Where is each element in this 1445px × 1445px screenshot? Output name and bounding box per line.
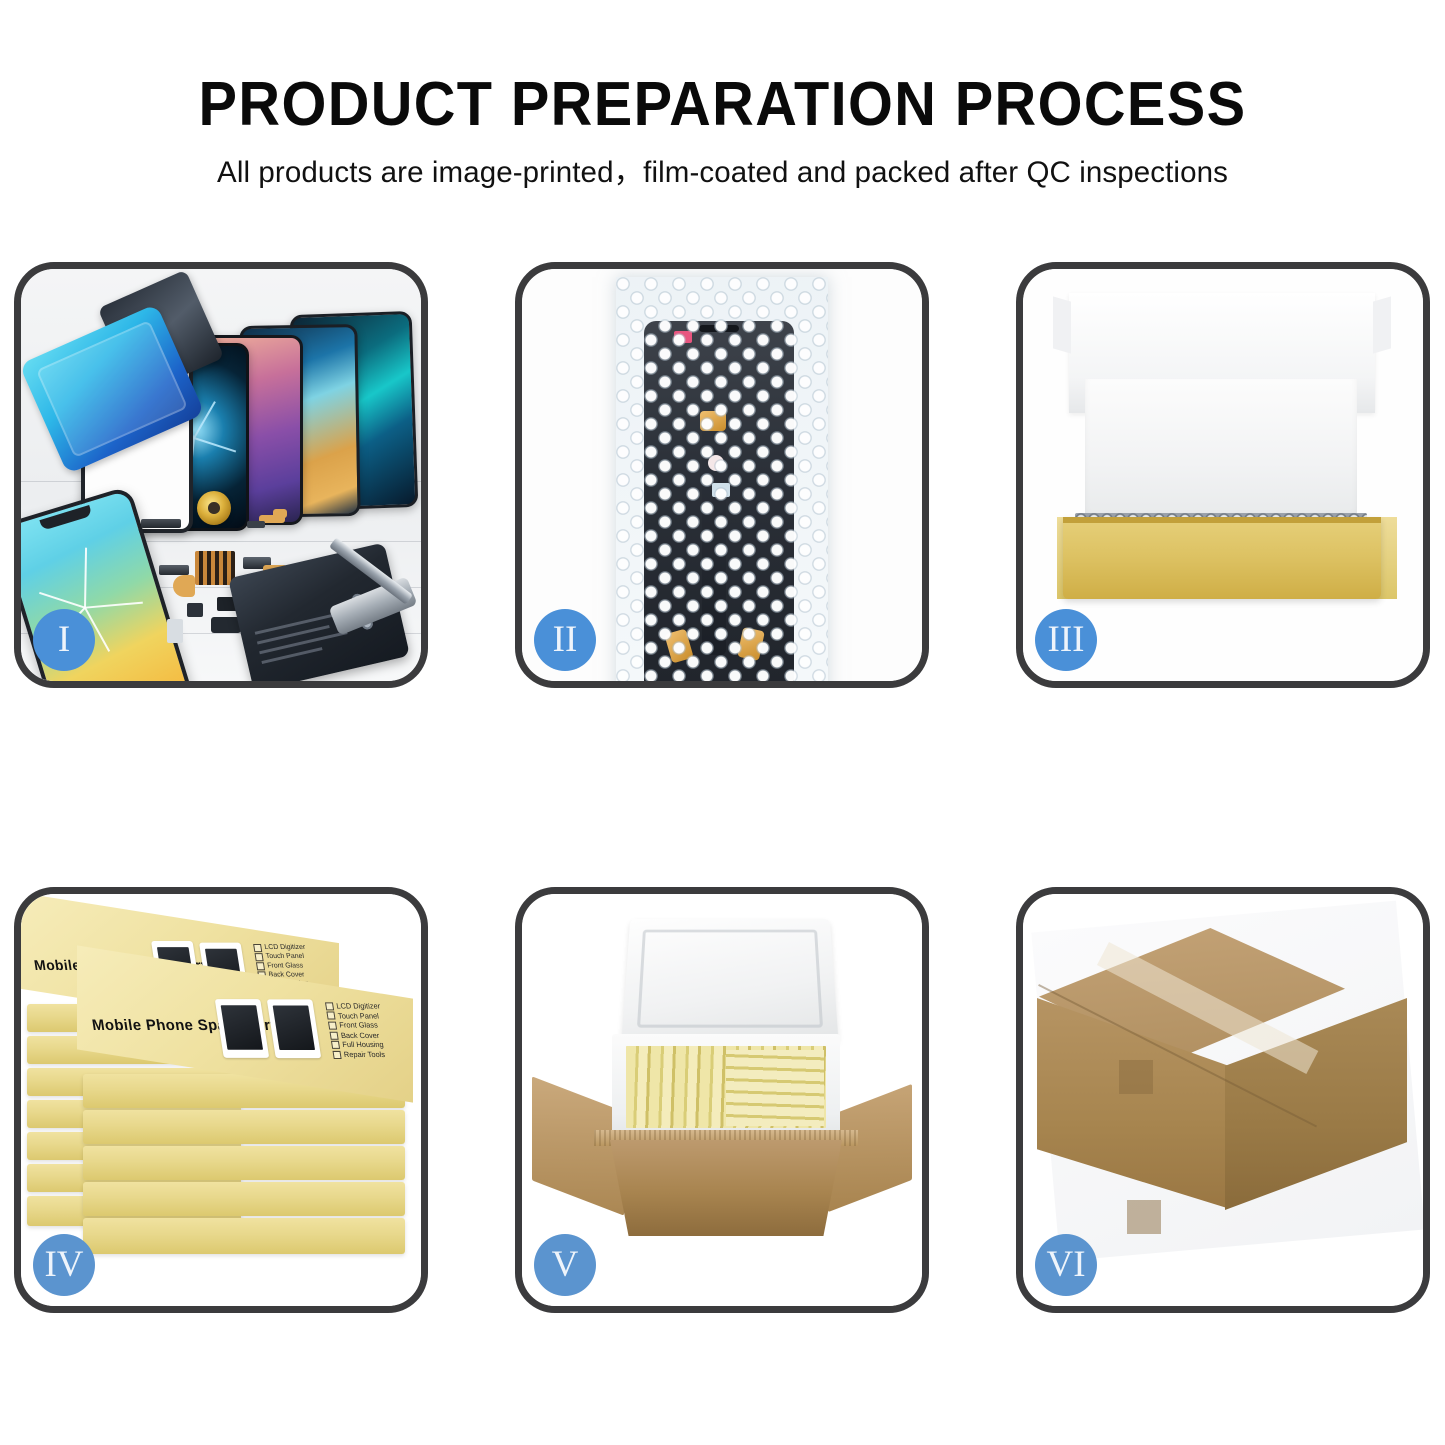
flex-connector-top [700,411,726,431]
small-component-part [187,603,203,617]
step-panel-6: VI [1016,887,1430,1313]
checklist-item: Touch Panel [337,1011,379,1021]
checklist-item: LCD Digitizer [336,1001,381,1011]
white-foam-sheet [1085,379,1357,519]
step-panel-5: V [515,887,929,1313]
checklist-item: Front Glass [267,962,304,971]
stacked-box [83,1182,405,1216]
bubble-wrap-bag [616,277,828,681]
flex-cable-part [273,509,287,518]
page-subtitle: All products are image-printed，film-coat… [0,138,1445,190]
step-panel-2: II [515,262,929,688]
step-panel-1: I [14,262,428,688]
wireless-charging-coil-part [197,491,231,525]
stacked-box [83,1146,405,1180]
carton-body [610,1140,842,1236]
flex-cable-part [173,575,195,597]
box-phone-thumbnail [267,999,322,1058]
pink-qc-sticker [674,331,692,343]
ic-chip-array-part [195,551,235,585]
step-badge-6: VI [1035,1234,1097,1296]
small-component-part [159,565,189,575]
step-badge-3: III [1035,609,1097,671]
stacked-box [83,1218,405,1254]
checklist-item: Front Glass [339,1021,379,1031]
box-checklist-front: LCD Digitizer Touch Panel Front Glass Ba… [325,1001,389,1059]
checklist-item: Touch Panel [265,953,304,962]
checklist-item: LCD Digitizer [264,944,306,953]
boxed-products-inside [626,1046,826,1128]
box-front-edge [1063,517,1381,523]
step-panel-4: Mobile Phone Spare Parts LCD Digitizer T… [14,887,428,1313]
step-badge-4: IV [33,1234,95,1296]
kraft-box-base [1063,517,1381,599]
sim-tray-part [167,619,183,643]
earpiece-speaker-part [141,519,181,528]
step-badge-2: II [534,609,596,671]
connector-part [247,521,265,528]
blue-chip-part [712,483,730,497]
box-phone-thumbnail [215,999,270,1058]
step-badge-5: V [534,1234,596,1296]
carton-tape-patch-upper [1119,1060,1153,1094]
page-title: PRODUCT PREPARATION PROCESS [51,0,1395,138]
page-header: PRODUCT PREPARATION PROCESS All products… [0,0,1445,240]
checklist-item: Full Housing [342,1040,385,1050]
carton-tape-patch-lower [1127,1200,1161,1234]
styrofoam-lid [621,919,838,1042]
checklist-item: Repair Tools [343,1050,386,1060]
stacked-box [83,1110,405,1144]
step-panel-3: III [1016,262,1430,688]
product-boxes-row [726,1050,824,1126]
step-badge-1: I [33,609,95,671]
white-pad-part [708,455,724,471]
process-steps-grid: I II [14,262,1431,1314]
checklist-item: Back Cover [340,1030,380,1040]
